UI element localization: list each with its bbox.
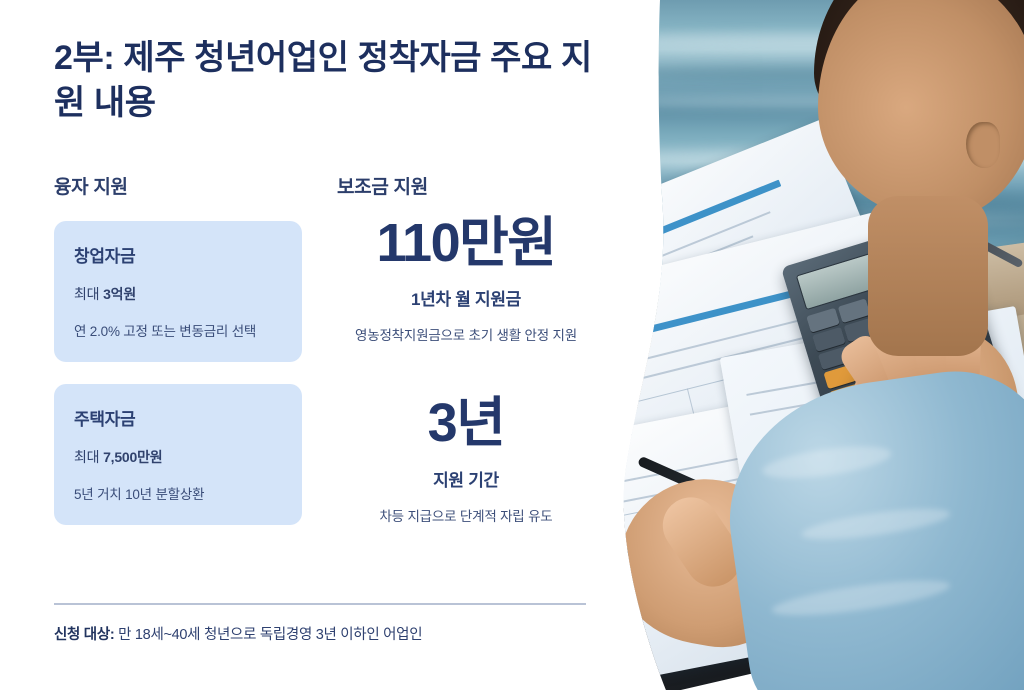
loan-card-amount-value: 3억원 [103,286,136,302]
eligibility-text: 만 18세~40세 청년으로 독립경영 3년 이하인 어업인 [114,627,422,643]
loan-card-amount-prefix: 최대 [74,449,103,465]
loan-card-amount-value: 7,500만원 [103,449,162,465]
loan-card-note: 연 2.0% 고정 또는 변동금리 선택 [74,320,282,340]
stat-description: 차등 지급으로 단계적 자립 유도 [337,507,595,528]
eligibility-label: 신청 대상: [54,627,114,643]
grant-support-column: 보조금 지원 110만원 1년차 월 지원금 영농정착지원금으로 초기 생활 안… [337,172,595,528]
fisherman-paperwork-photo [600,0,1024,690]
person-ear [966,122,1000,168]
loan-support-heading: 융자 지원 [54,172,304,199]
loan-card-note: 5년 거치 10년 분할상환 [74,483,282,503]
loan-card-title: 주택자금 [74,405,282,430]
person-neck [868,196,988,356]
stat-value: 110만원 [337,213,595,273]
loan-support-column: 융자 지원 창업자금 최대 3억원 연 2.0% 고정 또는 변동금리 선택 주… [54,172,304,547]
stat-label: 1년차 월 지원금 [337,285,595,310]
loan-card-startup[interactable]: 창업자금 최대 3억원 연 2.0% 고정 또는 변동금리 선택 [54,221,302,362]
hero-image [600,0,1024,690]
grant-support-heading: 보조금 지원 [337,172,595,199]
loan-card-amount: 최대 3억원 [74,284,282,304]
page-title-prefix: 2부: [54,39,114,77]
stat-support-duration: 3년 지원 기간 차등 지급으로 단계적 자립 유도 [337,393,595,527]
slide-root: 2부: 제주 청년어업인 정착자금 주요 지원 내용 융자 지원 창업자금 최대… [0,0,1024,690]
stat-label: 지원 기간 [337,466,595,491]
loan-card-housing[interactable]: 주택자금 최대 7,500만원 5년 거치 10년 분할상환 [54,384,302,525]
stat-monthly-grant: 110만원 1년차 월 지원금 영농정착지원금으로 초기 생활 안정 지원 [337,213,595,347]
stat-description: 영농정착지원금으로 초기 생활 안정 지원 [337,326,595,347]
page-title: 2부: 제주 청년어업인 정착자금 주요 지원 내용 [54,36,594,126]
content-area: 2부: 제주 청년어업인 정착자금 주요 지원 내용 융자 지원 창업자금 최대… [0,0,620,690]
footer-divider [54,603,586,605]
loan-card-amount: 최대 7,500만원 [74,447,282,467]
loan-card-amount-prefix: 최대 [74,286,103,302]
eligibility-note: 신청 대상: 만 18세~40세 청년으로 독립경영 3년 이하인 어업인 [54,623,422,644]
stat-value: 3년 [337,393,595,453]
loan-card-title: 창업자금 [74,242,282,267]
page-title-rest: 제주 청년어업인 정착자금 주요 지원 내용 [54,39,592,122]
